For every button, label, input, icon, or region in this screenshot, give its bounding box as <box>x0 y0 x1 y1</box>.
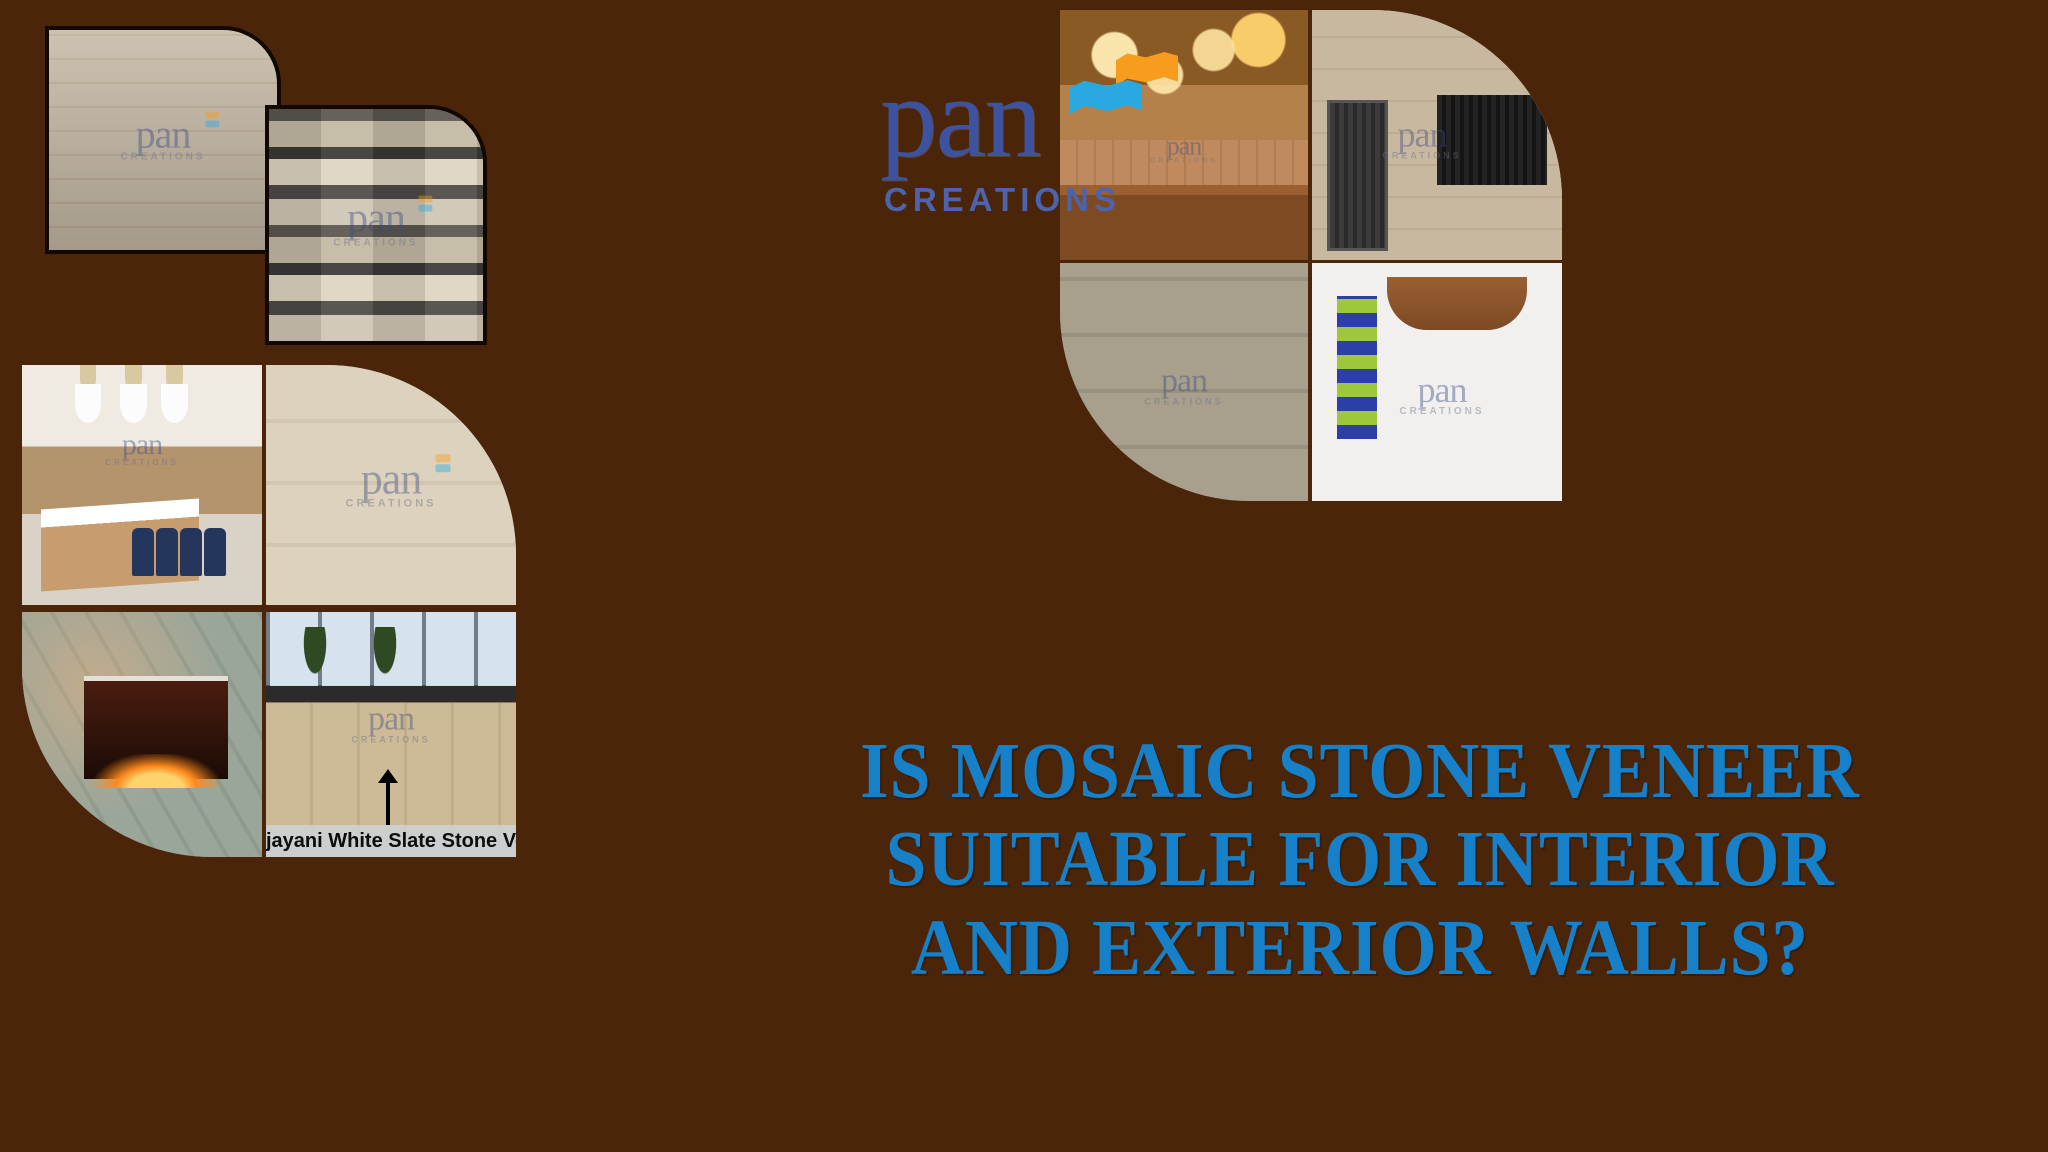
brand-logo: pan CREATIONS <box>880 60 1170 250</box>
gallery-image-modern-kitchen-with-stone-backsplash: pan CREATIONS <box>22 365 262 605</box>
gallery-image-mosaic-stone-strip-cladding: pan CREATIONS <box>265 105 487 345</box>
headline-line-2: SUITABLE FOR INTERIOR <box>746 816 1974 904</box>
photo-art <box>266 365 516 605</box>
headline: IS MOSAIC STONE VENEER SUITABLE FOR INTE… <box>700 728 2020 993</box>
gallery-image-curved-stone-reception-desk: pan CREATIONS jayani White Slate Stone V… <box>266 612 516 857</box>
gallery-image-interior-stone-feature-wall-with-tv: pan CREATIONS <box>45 26 281 254</box>
logo-subtitle: CREATIONS <box>884 181 1170 219</box>
photo-art <box>22 365 262 605</box>
gallery-image-beige-large-format-stone-panels: pan CREATIONS <box>266 365 516 605</box>
image-caption: jayani White Slate Stone Ven <box>266 825 516 857</box>
gallery-image-exterior-stone-clad-building-facade: pan CREATIONS <box>1312 10 1562 260</box>
headline-line-3: AND EXTERIOR WALLS? <box>746 905 1974 993</box>
flag-wave-icon <box>1070 52 1180 122</box>
photo-art <box>1312 10 1562 260</box>
photo-art <box>49 30 277 250</box>
poster-canvas: pan CREATIONS pan CREATIONS <box>0 0 2048 1152</box>
pointer-arrow-icon <box>386 781 390 825</box>
headline-line-1: IS MOSAIC STONE VENEER <box>746 728 1974 816</box>
gallery-image-natural-slate-stone-wall-texture: pan CREATIONS <box>1060 263 1308 501</box>
photo-art <box>269 109 483 341</box>
photo-art <box>1312 263 1562 501</box>
photo-art <box>266 612 516 857</box>
flag-wave-blue <box>1070 80 1142 118</box>
gallery-image-showroom-stone-veneer-display: pan CREATIONS <box>1312 263 1562 501</box>
photo-art <box>1060 263 1308 501</box>
gallery-image-stone-clad-linear-fireplace <box>22 612 262 857</box>
photo-art <box>22 612 262 857</box>
